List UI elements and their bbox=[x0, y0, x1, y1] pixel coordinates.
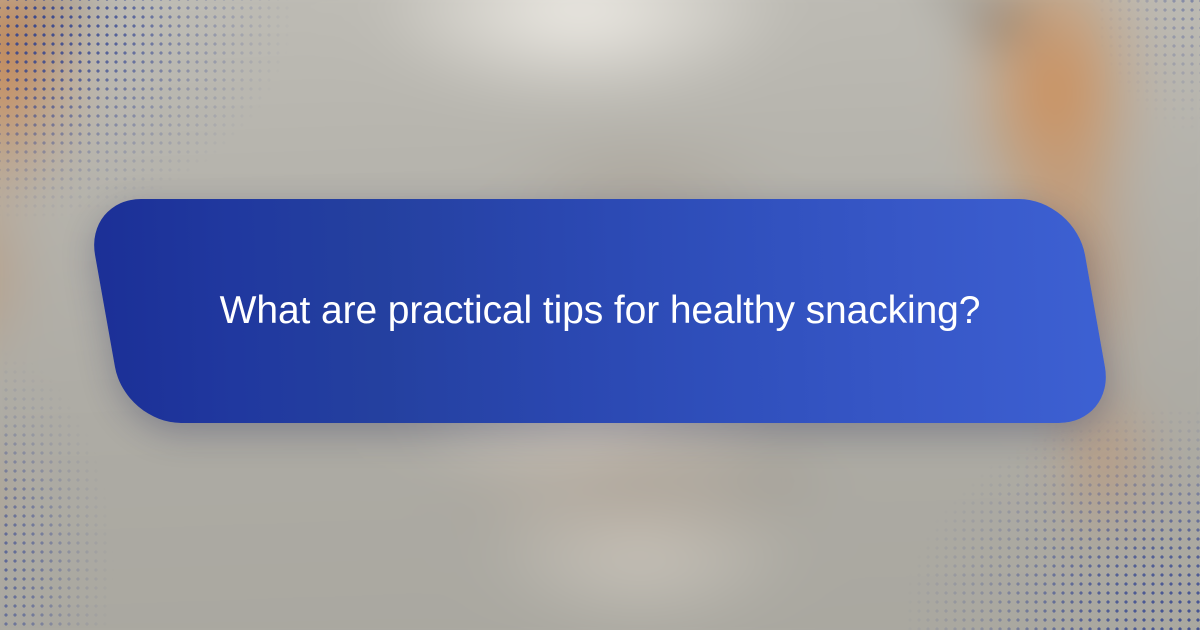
social-share-card: What are practical tips for healthy snac… bbox=[0, 0, 1200, 630]
headline-banner: What are practical tips for healthy snac… bbox=[105, 199, 1095, 423]
headline-text: What are practical tips for healthy snac… bbox=[105, 199, 1095, 423]
